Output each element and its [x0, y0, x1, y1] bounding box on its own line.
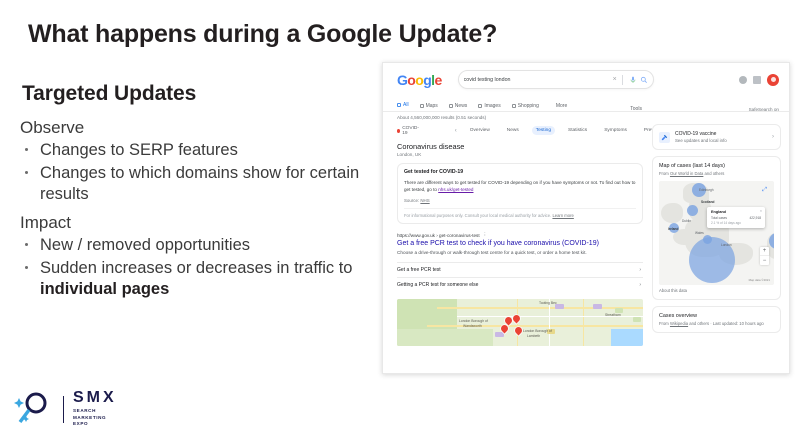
page-title: What happens during a Google Update?: [28, 20, 497, 49]
map-label: Scotland: [701, 200, 714, 204]
microphone-icon[interactable]: [629, 76, 637, 84]
cases-overview-card: Cases overview From Wikipedia and others…: [652, 306, 781, 333]
last-updated: · Last updated: 10 hours ago: [709, 321, 764, 326]
status-badge-label: COVID-19: [402, 126, 420, 136]
list-item-emphasis: individual pages: [40, 280, 169, 298]
more-icon: [550, 104, 554, 108]
nhs-test-link[interactable]: nhs.uk/get-tested: [438, 187, 473, 192]
tooltip-metric-label: Total cases: [711, 216, 727, 220]
tagline-line: MARKETING: [73, 415, 117, 422]
globe-icon[interactable]: [739, 76, 747, 84]
card-disclaimer-text: For informational purposes only. Consult…: [404, 213, 551, 218]
chevron-right-icon[interactable]: ›: [772, 134, 774, 140]
map-label: London: [721, 243, 732, 247]
covid-tab-news[interactable]: News: [503, 126, 523, 135]
covid-tab-overview[interactable]: Overview: [466, 126, 494, 135]
tag-icon: [512, 104, 516, 108]
avatar[interactable]: [767, 74, 779, 86]
news-icon: [449, 104, 453, 108]
covid-dot-icon: [397, 129, 400, 133]
divider: [63, 396, 64, 423]
list-item-text: Sudden increases or decreases in traffic…: [40, 259, 352, 277]
tab-label: More: [556, 103, 567, 109]
logo-letter: G: [397, 72, 407, 88]
organic-result: https://www.gov.uk › get-coronavirus-tes…: [397, 232, 643, 292]
card-disclaimer: For informational purposes only. Consult…: [404, 208, 636, 218]
covid-tab-testing[interactable]: Testing: [532, 126, 555, 135]
pin-icon: [420, 104, 424, 108]
search-icon: [397, 103, 401, 107]
map-of-cases-card: Map of cases (last 14 days) From Our Wor…: [652, 156, 781, 300]
result-menu-icon[interactable]: ⋮: [483, 232, 488, 238]
card-title: Get tested for COVID-19: [404, 169, 636, 175]
tooltip-metric-sub: 2.1 % of 14 days ago: [711, 221, 761, 225]
divider: [383, 111, 789, 112]
covid-subnav: COVID-19 ‹ Overview News Testing Statist…: [397, 124, 643, 137]
expand-icon[interactable]: ⤢: [762, 187, 767, 194]
local-pack-map[interactable]: Tooting Bec London Borough of Wandsworth…: [397, 299, 643, 346]
source-suffix: and others: [688, 321, 709, 326]
map-label: Dublin: [682, 219, 691, 223]
tagline-line: EXPO: [73, 421, 117, 428]
about-this-data-link[interactable]: About this data: [659, 288, 774, 293]
map-attribution: Map data ©2021: [749, 278, 770, 282]
chevron-left-icon[interactable]: ‹: [455, 128, 457, 134]
google-header: Google covid testing london ×: [383, 63, 789, 96]
results-count: About 4,560,000,000 results (0.51 second…: [383, 112, 789, 120]
source-link[interactable]: Wikipedia: [670, 321, 688, 326]
serp-body: COVID-19 ‹ Overview News Testing Statist…: [383, 120, 789, 346]
list-item: Sudden increases or decreases in traffic…: [18, 258, 380, 300]
result-url-text: https://www.gov.uk › get-coronavirus-tes…: [397, 233, 480, 238]
brand-name: SMX: [73, 390, 117, 406]
case-bubble[interactable]: [687, 205, 698, 216]
vaccine-card-text: COVID-19 vaccine See updates and local i…: [675, 131, 767, 143]
avatar-inner: [771, 77, 776, 82]
tab-label: News: [455, 103, 468, 109]
covid-entity-title: Coronavirus disease: [397, 142, 643, 151]
source-prefix: From: [659, 171, 670, 176]
group-label-observe: Observe: [20, 118, 380, 138]
vaccine-card[interactable]: COVID-19 vaccine See updates and local i…: [652, 124, 781, 150]
serp-main-column: COVID-19 ‹ Overview News Testing Statist…: [397, 124, 643, 346]
testing-info-card: Get tested for COVID-19 There are differ…: [397, 163, 643, 224]
result-snippet: Choose a drive-through or walk-through t…: [397, 249, 643, 256]
section-heading: Targeted Updates: [22, 82, 380, 106]
tab-label: All: [403, 102, 409, 108]
zoom-in-button[interactable]: +: [760, 247, 769, 256]
map-zoom-controls[interactable]: + −: [760, 247, 769, 265]
tooltip-metric: Total cases422,918: [711, 216, 761, 220]
vaccine-card-row: COVID-19 vaccine See updates and local i…: [659, 131, 774, 143]
logo-letter: e: [434, 72, 441, 88]
card-source: Source: NHS: [404, 198, 636, 203]
tooltip-region: England: [711, 210, 761, 214]
vaccine-card-subtitle: See updates and local info: [675, 138, 767, 143]
list-item: Changes to which domains show for certai…: [18, 163, 380, 205]
google-logo[interactable]: Google: [397, 72, 442, 88]
bullet-list-impact: New / removed opportunities Sudden incre…: [18, 235, 380, 299]
serp-sidebar: COVID-19 vaccine See updates and local i…: [652, 124, 781, 346]
group-label-impact: Impact: [20, 213, 380, 233]
list-item: Changes to SERP features: [18, 140, 380, 161]
chevron-right-icon: ›: [639, 282, 641, 288]
uk-cases-map[interactable]: Edinburgh Scotland Ireland Dublin Wales …: [659, 181, 774, 285]
source-prefix: From: [659, 321, 670, 326]
clear-icon[interactable]: ×: [611, 76, 619, 84]
result-title-link[interactable]: Get a free PCR test to check if you have…: [397, 240, 643, 247]
card-body: There are different ways to get tested f…: [404, 179, 636, 193]
sitelink-row[interactable]: Getting a PCR test for someone else›: [397, 277, 643, 292]
map-label: Ireland: [668, 227, 678, 231]
source-suffix: and others: [703, 171, 724, 176]
zoom-out-button[interactable]: −: [760, 256, 769, 265]
brand-tagline: SEARCH MARKETING EXPO: [73, 408, 117, 428]
card-source-label: Source:: [404, 198, 419, 203]
vaccine-icon: [659, 132, 670, 143]
covid-tab-statistics[interactable]: Statistics: [564, 126, 591, 135]
sitelink-label: Getting a PCR test for someone else: [397, 282, 478, 288]
list-item: New / removed opportunities: [18, 235, 380, 256]
magnifier-icon: [14, 389, 54, 429]
map-label: Edinburgh: [699, 188, 714, 192]
tagline-line: SEARCH: [73, 408, 117, 415]
smx-wordmark: SMX SEARCH MARKETING EXPO: [73, 390, 117, 428]
search-verticals: All Maps News Images Shopping More Tools…: [383, 96, 789, 112]
card-source-link[interactable]: NHS: [420, 198, 429, 203]
sitelink-row[interactable]: Get a free PCR test›: [397, 262, 643, 277]
sitelink-label: Get a free PCR test: [397, 267, 441, 273]
group-observe: Observe Changes to SERP features Changes…: [18, 118, 380, 204]
result-url[interactable]: https://www.gov.uk › get-coronavirus-tes…: [397, 232, 643, 238]
vaccine-card-title: COVID-19 vaccine: [675, 131, 767, 137]
divider: [622, 75, 623, 85]
tooltip-metric-value: 422,918: [749, 216, 761, 220]
tab-label: Shopping: [518, 103, 539, 109]
source-link[interactable]: Our World in Data: [670, 171, 703, 176]
covid-entity-location: London, UK: [397, 152, 643, 157]
tab-label: Images: [484, 103, 500, 109]
logo-letter: g: [423, 72, 431, 88]
apps-grid-icon[interactable]: [753, 76, 761, 84]
map-card-heading: Map of cases (last 14 days): [659, 163, 774, 169]
cases-overview-source: From Wikipedia and others · Last updated…: [659, 321, 774, 326]
slide-canvas: What happens during a Google Update? Tar…: [0, 0, 800, 438]
image-icon: [478, 104, 482, 108]
header-actions: [739, 74, 781, 86]
bullet-list-observe: Changes to SERP features Changes to whic…: [18, 140, 380, 204]
serp-screenshot: Google covid testing london × All Maps N…: [382, 62, 790, 374]
search-box[interactable]: covid testing london ×: [458, 70, 654, 89]
status-badge: COVID-19: [397, 126, 420, 136]
map-label: Wales: [695, 231, 704, 235]
logo-letter: o: [415, 72, 423, 88]
learn-more-link[interactable]: Learn more: [552, 213, 573, 218]
search-icon[interactable]: [640, 76, 648, 84]
result-sitelinks: Get a free PCR test› Getting a PCR test …: [397, 262, 643, 292]
map-tooltip: × England Total cases422,918 2.1 % of 14…: [707, 207, 765, 228]
cases-overview-heading: Cases overview: [659, 313, 774, 319]
search-input[interactable]: covid testing london: [464, 77, 608, 83]
left-content-column: Targeted Updates Observe Changes to SERP…: [18, 82, 380, 309]
group-impact: Impact New / removed opportunities Sudde…: [18, 213, 380, 299]
map-pin[interactable]: [514, 326, 524, 336]
close-icon[interactable]: ×: [760, 209, 762, 213]
tab-label: Maps: [426, 103, 438, 109]
chevron-right-icon: ›: [639, 267, 641, 273]
covid-tab-symptoms[interactable]: Symptoms: [600, 126, 631, 135]
map-card-source: From Our World in Data and others: [659, 171, 774, 176]
smx-logo: SMX SEARCH MARKETING EXPO: [14, 389, 117, 429]
